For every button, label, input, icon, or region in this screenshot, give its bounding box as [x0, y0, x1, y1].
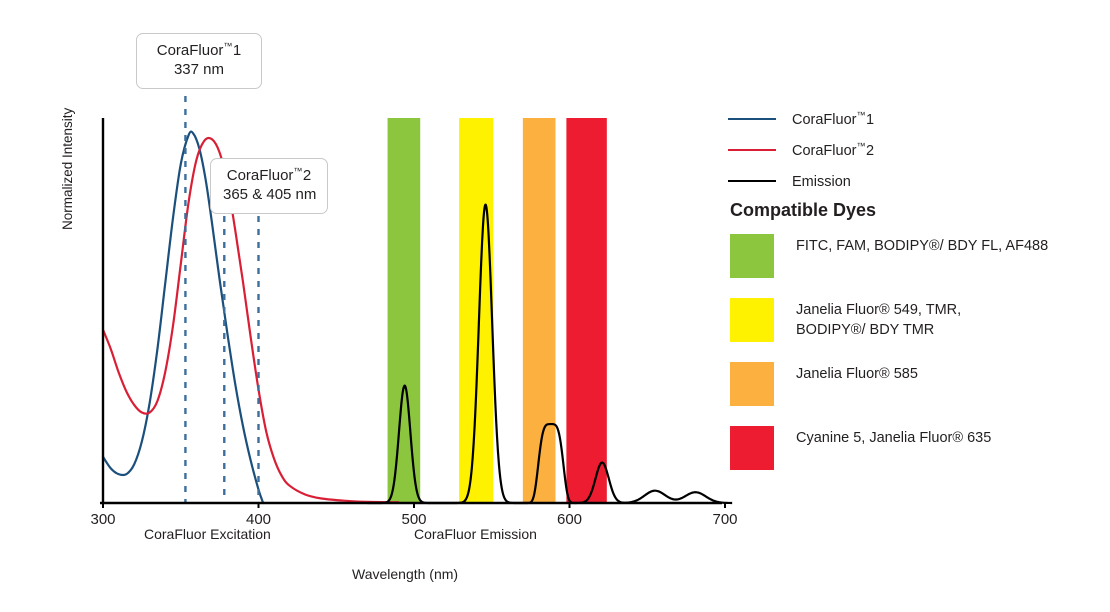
compatible-dyes-list: FITC, FAM, BODIPY®/ BDY FL, AF488Janelia… — [730, 234, 1102, 490]
dye-label-line: Cyanine 5, Janelia Fluor® 635 — [796, 429, 991, 449]
callout-corafluor1-name: CoraFluor™1 — [149, 41, 249, 61]
emission-band — [566, 118, 606, 503]
emission-band — [523, 118, 556, 503]
spectra-figure: CoraFluor™1 337 nm CoraFluor™2 365 & 405… — [0, 0, 1110, 612]
dye-label: Janelia Fluor® 585 — [796, 362, 918, 385]
x-axis-tick-label: 600 — [557, 511, 582, 528]
legend-item-index: 2 — [866, 143, 874, 159]
legend-item-label: CoraFluor™1 — [792, 110, 874, 128]
y-axis-label: Normalized Intensity — [60, 108, 75, 230]
dye-label-line: FITC, FAM, BODIPY®/ BDY FL, AF488 — [796, 237, 1048, 257]
callout-corafluor1-value: 337 nm — [149, 61, 249, 80]
dye-color-swatch — [730, 362, 774, 406]
dye-label: Janelia Fluor® 549, TMR,BODIPY®/ BDY TMR — [796, 298, 961, 340]
legend-item: CoraFluor™2 — [728, 141, 1098, 159]
legend-item-name: CoraFluor — [792, 143, 856, 159]
dye-color-swatch — [730, 426, 774, 470]
legend-item-index: 1 — [866, 112, 874, 128]
x-axis-tick-label: 400 — [246, 511, 271, 528]
x-axis-tick-label: 300 — [90, 511, 115, 528]
legend-line-swatch — [728, 118, 776, 120]
trademark-mark: ™ — [856, 110, 866, 120]
x-axis-region-label-excitation: CoraFluor Excitation — [144, 526, 271, 542]
dye-list-item: FITC, FAM, BODIPY®/ BDY FL, AF488 — [730, 234, 1102, 278]
legend-item-name: Emission — [792, 173, 851, 189]
dye-list-item: Janelia Fluor® 585 — [730, 362, 1102, 406]
dye-label-line: Janelia Fluor® 549, TMR, — [796, 301, 961, 321]
legend-item: CoraFluor™1 — [728, 110, 1098, 128]
x-axis-tick-label: 500 — [401, 511, 426, 528]
legend-line-swatch — [728, 149, 776, 151]
series-legend: CoraFluor™1CoraFluor™2Emission — [728, 110, 1098, 202]
dye-label-line: BODIPY®/ BDY TMR — [796, 321, 961, 341]
dye-list-item: Janelia Fluor® 549, TMR,BODIPY®/ BDY TMR — [730, 298, 1102, 342]
dye-color-swatch — [730, 234, 774, 278]
emission-band — [388, 118, 421, 503]
x-axis-label: Wavelength (nm) — [352, 566, 458, 582]
dye-label: FITC, FAM, BODIPY®/ BDY FL, AF488 — [796, 234, 1048, 257]
dye-list-item: Cyanine 5, Janelia Fluor® 635 — [730, 426, 1102, 470]
callout-corafluor2-value: 365 & 405 nm — [223, 186, 315, 205]
dye-color-swatch — [730, 298, 774, 342]
callout-corafluor1: CoraFluor™1 337 nm — [136, 33, 262, 89]
trademark-mark: ™ — [856, 141, 866, 151]
legend-item-label: CoraFluor™2 — [792, 141, 874, 159]
dye-label: Cyanine 5, Janelia Fluor® 635 — [796, 426, 991, 449]
x-axis-tick-label: 700 — [712, 511, 737, 528]
legend-item-label: Emission — [792, 172, 851, 190]
legend-item-name: CoraFluor — [792, 112, 856, 128]
x-axis-region-label-emission: CoraFluor Emission — [414, 526, 537, 542]
callout-corafluor2: CoraFluor™2 365 & 405 nm — [210, 158, 328, 214]
compatible-dyes-title: Compatible Dyes — [730, 200, 876, 221]
dye-label-line: Janelia Fluor® 585 — [796, 365, 918, 385]
emission-band — [459, 118, 493, 503]
legend-item: Emission — [728, 172, 1098, 190]
callout-corafluor2-name: CoraFluor™2 — [223, 166, 315, 186]
legend-line-swatch — [728, 180, 776, 182]
